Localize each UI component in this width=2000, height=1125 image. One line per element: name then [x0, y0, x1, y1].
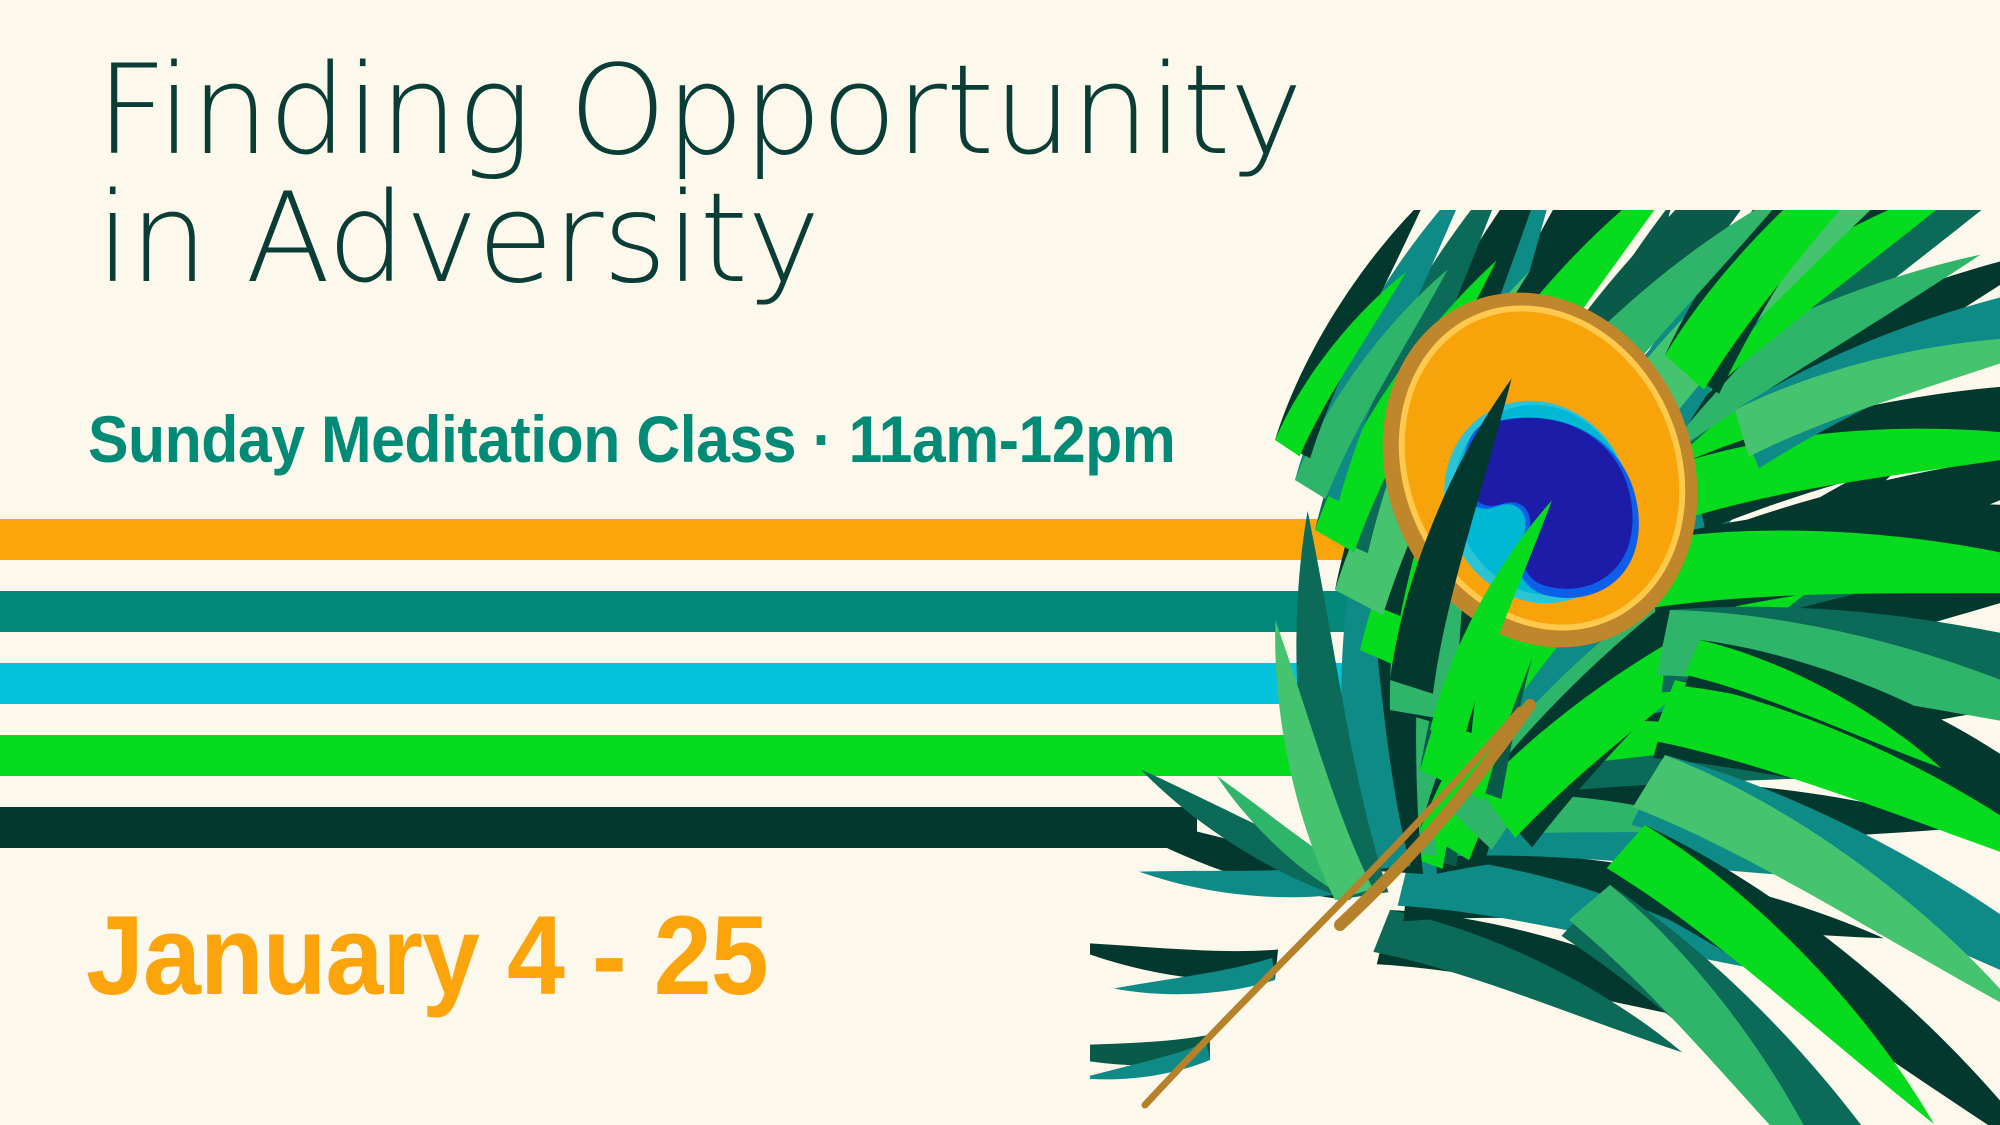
peacock-feather-illustration: [1090, 210, 2000, 1125]
poster-subtitle: Sunday Meditation Class · 11am-12pm: [88, 406, 1175, 472]
poster-date-range: January 4 - 25: [86, 900, 768, 1012]
dark-green-stripe: [0, 807, 1197, 848]
promo-poster: Finding Opportunity in Adversity Sunday …: [0, 0, 2000, 1125]
